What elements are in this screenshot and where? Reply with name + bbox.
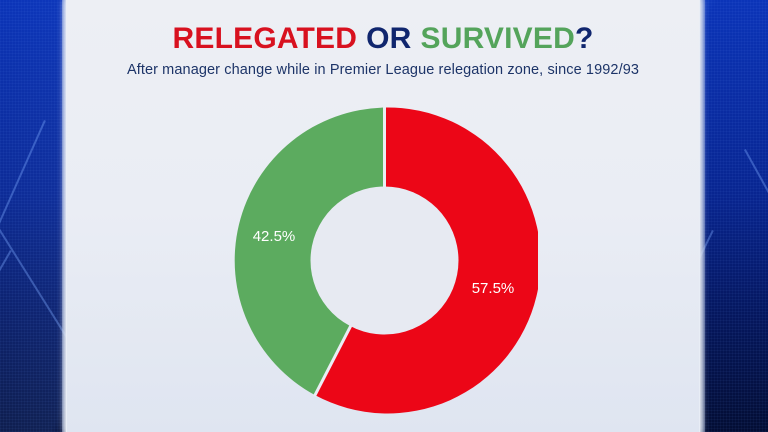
title-word-relegated: RELEGATED [173, 22, 358, 55]
donut-label-survived: 42.5% [253, 228, 296, 245]
page-subtitle: After manager change while in Premier Le… [66, 62, 700, 78]
donut-chart: 42.5% 57.5% [231, 107, 538, 414]
donut-chart-svg: 42.5% 57.5% [231, 107, 538, 414]
broadcast-graphic: RELEGATEDORSURVIVED? After manager chang… [0, 0, 768, 432]
title-word-or: OR [366, 22, 411, 55]
title-question-mark: ? [575, 22, 594, 55]
donut-hole [311, 187, 459, 335]
donut-label-relegated: 57.5% [472, 280, 515, 297]
title-word-survived: SURVIVED [421, 22, 575, 55]
page-title: RELEGATEDORSURVIVED? [66, 22, 700, 56]
